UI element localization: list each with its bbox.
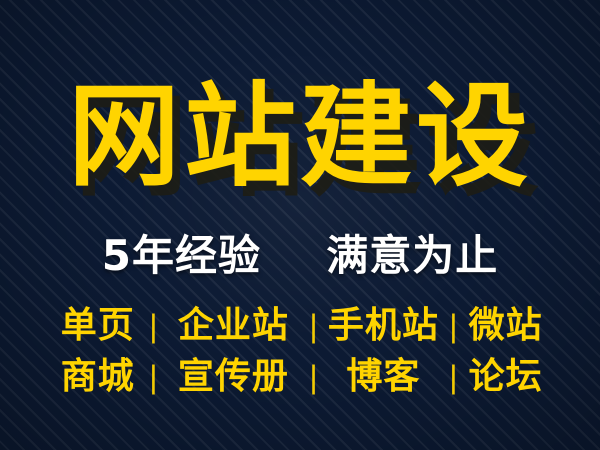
service-separator: |	[147, 306, 159, 346]
service-item-boke[interactable]: 博客	[319, 355, 447, 399]
subtitle-right: 满意为止	[326, 231, 498, 280]
service-item-weizhan[interactable]: 微站	[459, 304, 552, 348]
service-item-xuanchuance[interactable]: 宣传册	[159, 355, 307, 399]
service-separator: |	[147, 357, 159, 397]
headline-block: 网站建设 网站建设	[0, 78, 600, 206]
service-item-luntan[interactable]: 论坛	[459, 355, 552, 399]
service-list: 单页 | 企业站 | 手机站 | 微站 商城 | 宣传册 | 博客 | 论坛	[0, 300, 600, 410]
poster-canvas: 网站建设 网站建设 5年经验 满意为止 单页 | 企业站 | 手机站 | 微站 …	[0, 0, 600, 450]
subtitle-text: 5年经验 满意为止	[102, 230, 499, 282]
service-item-shoujizhan[interactable]: 手机站	[319, 304, 447, 348]
service-item-qiyezhan[interactable]: 企业站	[159, 304, 307, 348]
headline-face: 网站建设	[68, 72, 532, 202]
service-row-1: 单页 | 企业站 | 手机站 | 微站	[48, 300, 552, 351]
subtitle-left: 5年经验	[102, 231, 261, 280]
service-item-danye[interactable]: 单页	[48, 304, 147, 348]
service-separator: |	[447, 306, 459, 346]
service-separator: |	[447, 357, 459, 397]
service-item-shangcheng[interactable]: 商城	[48, 355, 147, 399]
service-separator: |	[308, 357, 320, 397]
subtitle-block: 5年经验 满意为止	[0, 230, 600, 288]
headline-text: 网站建设 网站建设	[68, 78, 532, 196]
service-separator: |	[308, 306, 320, 346]
service-row-2: 商城 | 宣传册 | 博客 | 论坛	[48, 351, 552, 402]
